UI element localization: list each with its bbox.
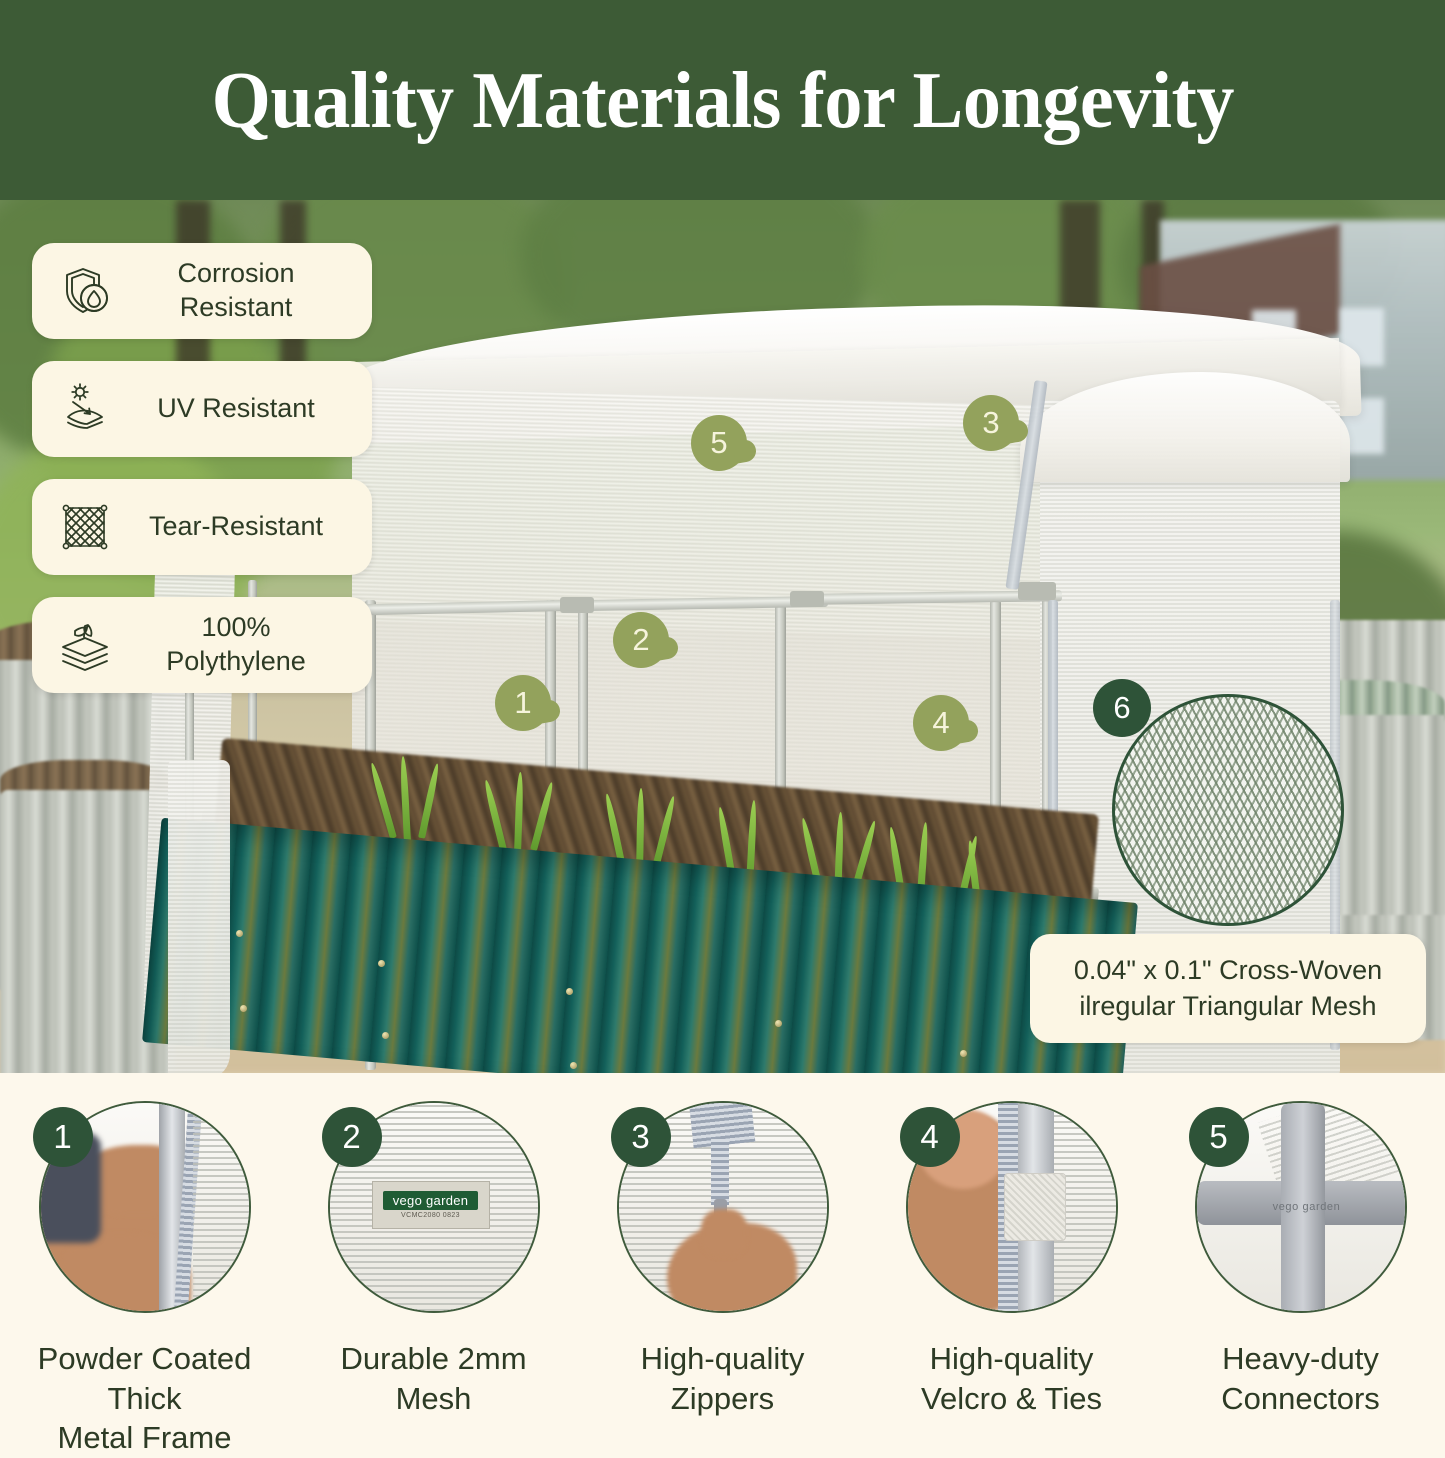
label-line-1: Powder Coated Thick bbox=[38, 1341, 252, 1416]
brand-tag-text: vego garden bbox=[383, 1191, 479, 1210]
mesh-net-icon bbox=[48, 499, 122, 555]
badge-line-2: Resistant bbox=[180, 292, 293, 322]
bottom-feature-2[interactable]: 2 vego garden VCMC2080 0823 Durable 2mm … bbox=[289, 1101, 578, 1418]
thumbnail-badge-5: 5 bbox=[1189, 1107, 1249, 1167]
label-line-1: High-quality bbox=[641, 1341, 805, 1376]
mesh-caption-line-1: 0.04" x 0.1" Cross-Woven bbox=[1074, 955, 1382, 985]
callout-pin-number: 3 bbox=[982, 405, 999, 441]
mesh-detail-badge-6[interactable]: 6 bbox=[1093, 679, 1151, 737]
callout-pin-number: 5 bbox=[710, 425, 727, 461]
label-line-2: Connectors bbox=[1221, 1381, 1380, 1416]
thumbnail-badge-number: 3 bbox=[631, 1118, 649, 1156]
feature-badge-corrosion-resistant[interactable]: Corrosion Resistant bbox=[32, 243, 372, 339]
sun-uv-fabric-icon bbox=[48, 381, 122, 437]
thumbnail-wrapper: 4 bbox=[906, 1101, 1118, 1313]
callout-pin-4[interactable]: 4 bbox=[913, 695, 969, 751]
rivet bbox=[378, 960, 385, 967]
bottom-feature-label: High-quality Zippers bbox=[641, 1339, 805, 1418]
feature-badge-label: UV Resistant bbox=[122, 392, 356, 426]
rivet bbox=[570, 1062, 577, 1069]
page-header: Quality Materials for Longevity bbox=[0, 0, 1445, 200]
rivet bbox=[566, 988, 573, 995]
pipe-connector bbox=[1018, 582, 1056, 600]
shield-droplet-icon bbox=[48, 263, 122, 319]
label-line-1: High-quality bbox=[930, 1341, 1094, 1376]
feature-badge-tear-resistant[interactable]: Tear-Resistant bbox=[32, 479, 372, 575]
mesh-caption-line-2: ilregular Triangular Mesh bbox=[1079, 991, 1376, 1021]
mesh-detail-circle bbox=[1112, 694, 1344, 926]
callout-pin-number: 2 bbox=[632, 622, 649, 658]
feature-badge-polythylene[interactable]: 100% Polythylene bbox=[32, 597, 372, 693]
thumbnail-wrapper: 1 bbox=[39, 1101, 251, 1313]
thumbnail-badge-number: 1 bbox=[53, 1118, 71, 1156]
thumbnail-badge-number: 2 bbox=[342, 1118, 360, 1156]
bottom-feature-strip: 1 Powder Coated Thick Metal Frame bbox=[0, 1073, 1445, 1445]
bottom-feature-label: Powder Coated Thick Metal Frame bbox=[15, 1339, 275, 1458]
feature-badge-label: Corrosion Resistant bbox=[122, 257, 356, 325]
rivet bbox=[240, 1005, 247, 1012]
thumbnail-badge-3: 3 bbox=[611, 1107, 671, 1167]
bottom-feature-1[interactable]: 1 Powder Coated Thick Metal Frame bbox=[0, 1101, 289, 1458]
bottom-feature-4[interactable]: 4 High-quality Velcro & Ties bbox=[867, 1101, 1156, 1418]
label-line-1: Heavy-duty bbox=[1222, 1341, 1379, 1376]
badge-line-2: Polythylene bbox=[166, 646, 306, 676]
infographic-page: Quality Materials for Longevity bbox=[0, 0, 1445, 1445]
callout-pin-2[interactable]: 2 bbox=[613, 612, 669, 668]
page-title: Quality Materials for Longevity bbox=[211, 60, 1233, 141]
mesh-badge-number: 6 bbox=[1113, 690, 1130, 726]
bottom-feature-3[interactable]: 3 High-quality Zippers bbox=[578, 1101, 867, 1418]
label-line-2: Metal Frame bbox=[58, 1420, 232, 1455]
label-line-2: Zippers bbox=[671, 1381, 774, 1416]
thumbnail-badge-number: 5 bbox=[1209, 1118, 1227, 1156]
thumbnail-wrapper: 5 vego garden bbox=[1195, 1101, 1407, 1313]
rivet bbox=[960, 1050, 967, 1057]
label-line-2: Velcro & Ties bbox=[921, 1381, 1102, 1416]
bottom-feature-label: Heavy-duty Connectors bbox=[1221, 1339, 1380, 1418]
callout-pin-5[interactable]: 5 bbox=[691, 415, 747, 471]
label-line-2: Mesh bbox=[396, 1381, 472, 1416]
feature-badge-list: Corrosion Resistant UV Resistant bbox=[32, 243, 372, 693]
thumbnail-badge-4: 4 bbox=[900, 1107, 960, 1167]
bottom-feature-label: High-quality Velcro & Ties bbox=[921, 1339, 1102, 1418]
pipe-connector bbox=[560, 597, 594, 613]
rivet bbox=[775, 1020, 782, 1027]
connector-brand-text: vego garden bbox=[1255, 1199, 1359, 1215]
callout-pin-1[interactable]: 1 bbox=[495, 675, 551, 731]
thumbnail-wrapper: 2 vego garden VCMC2080 0823 bbox=[328, 1101, 540, 1313]
feature-badge-label: 100% Polythylene bbox=[122, 611, 356, 679]
leaf-layers-icon bbox=[48, 617, 122, 673]
brand-tag-code: VCMC2080 0823 bbox=[401, 1212, 460, 1219]
thumbnail-badge-1: 1 bbox=[33, 1107, 93, 1167]
rivet bbox=[236, 930, 243, 937]
callout-pin-3[interactable]: 3 bbox=[963, 395, 1019, 451]
mesh-detail-caption: 0.04" x 0.1" Cross-Woven ilregular Trian… bbox=[1030, 934, 1426, 1043]
thumbnail-badge-number: 4 bbox=[920, 1118, 938, 1156]
badge-line-1: Corrosion bbox=[177, 258, 294, 288]
badge-line-1: 100% bbox=[201, 612, 270, 642]
bottom-feature-5[interactable]: 5 vego garden Heavy-duty Connectors bbox=[1156, 1101, 1445, 1418]
label-line-1: Durable 2mm bbox=[340, 1341, 526, 1376]
thumbnail-wrapper: 3 bbox=[617, 1101, 829, 1313]
cover-flap-left bbox=[168, 760, 230, 1073]
thumbnail-badge-2: 2 bbox=[322, 1107, 382, 1167]
brand-tag: vego garden VCMC2080 0823 bbox=[372, 1181, 490, 1229]
callout-pin-number: 4 bbox=[932, 705, 949, 741]
feature-badge-uv-resistant[interactable]: UV Resistant bbox=[32, 361, 372, 457]
rivet bbox=[382, 1032, 389, 1039]
feature-badge-label: Tear-Resistant bbox=[122, 510, 356, 544]
callout-pin-number: 1 bbox=[514, 685, 531, 721]
bottom-feature-label: Durable 2mm Mesh bbox=[340, 1339, 526, 1418]
pipe-connector bbox=[790, 591, 824, 607]
